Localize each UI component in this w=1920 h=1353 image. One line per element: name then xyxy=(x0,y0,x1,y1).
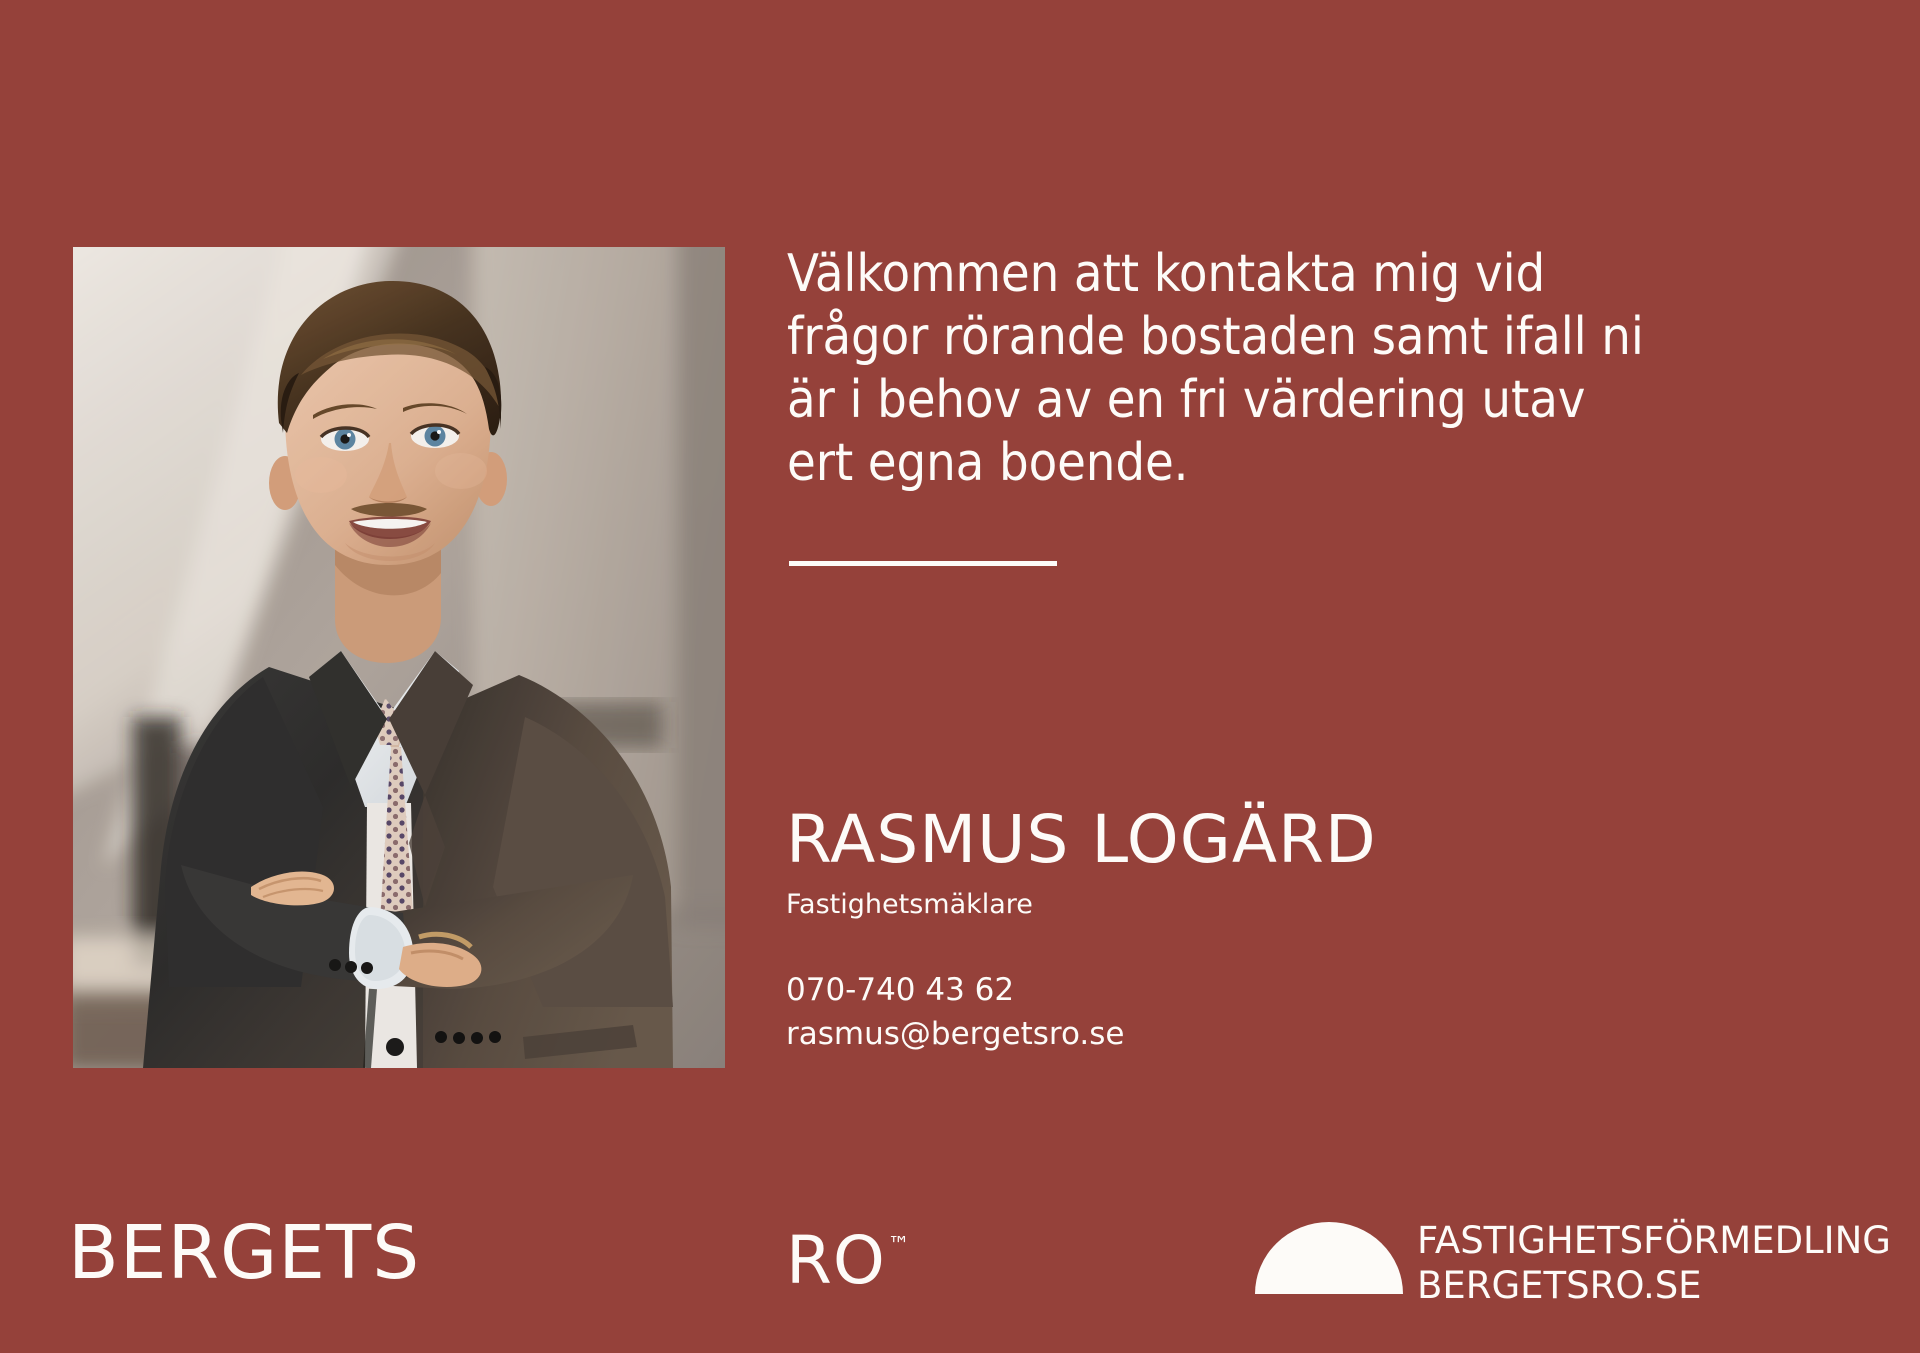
agent-role: Fastighetsmäklare xyxy=(786,887,1686,923)
footer-brand-ro: RO™ xyxy=(786,1215,908,1300)
footer-logo-text: FASTIGHETSFÖRMEDLING BERGETSRO.SE xyxy=(1417,1218,1891,1308)
headline-line-3: är i behov av en fri värdering utav xyxy=(787,369,1817,432)
headline-line-2: frågor rörande bostaden samt ifall ni xyxy=(787,306,1817,369)
headline-message: Välkommen att kontakta mig vid frågor rö… xyxy=(787,243,1817,495)
footer-brand-bergets: BERGETS xyxy=(68,1212,420,1294)
agent-phone[interactable]: 070-740 43 62 xyxy=(786,968,1124,1012)
contact-card: Välkommen att kontakta mig vid frågor rö… xyxy=(0,0,1920,1353)
footer-company-logo: FASTIGHETSFÖRMEDLING BERGETSRO.SE xyxy=(1255,1218,1891,1308)
dome-icon xyxy=(1255,1222,1403,1294)
footer-logo-line-1: FASTIGHETSFÖRMEDLING xyxy=(1417,1218,1891,1263)
trademark-icon: ™ xyxy=(888,1233,910,1258)
footer-logo-line-2: BERGETSRO.SE xyxy=(1417,1263,1891,1308)
agent-contact-details: 070-740 43 62 rasmus@bergetsro.se xyxy=(786,968,1124,1056)
agent-email[interactable]: rasmus@bergetsro.se xyxy=(786,1012,1124,1056)
agent-identity: RASMUS LOGÄRD Fastighetsmäklare xyxy=(786,805,1686,923)
footer-brand-ro-text: RO xyxy=(786,1222,886,1299)
agent-name: RASMUS LOGÄRD xyxy=(786,805,1686,875)
headline-line-4: ert egna boende. xyxy=(787,432,1817,495)
agent-portrait-photo xyxy=(73,247,725,1068)
headline-line-1: Välkommen att kontakta mig vid xyxy=(787,243,1817,306)
headline-divider-rule xyxy=(789,561,1057,566)
